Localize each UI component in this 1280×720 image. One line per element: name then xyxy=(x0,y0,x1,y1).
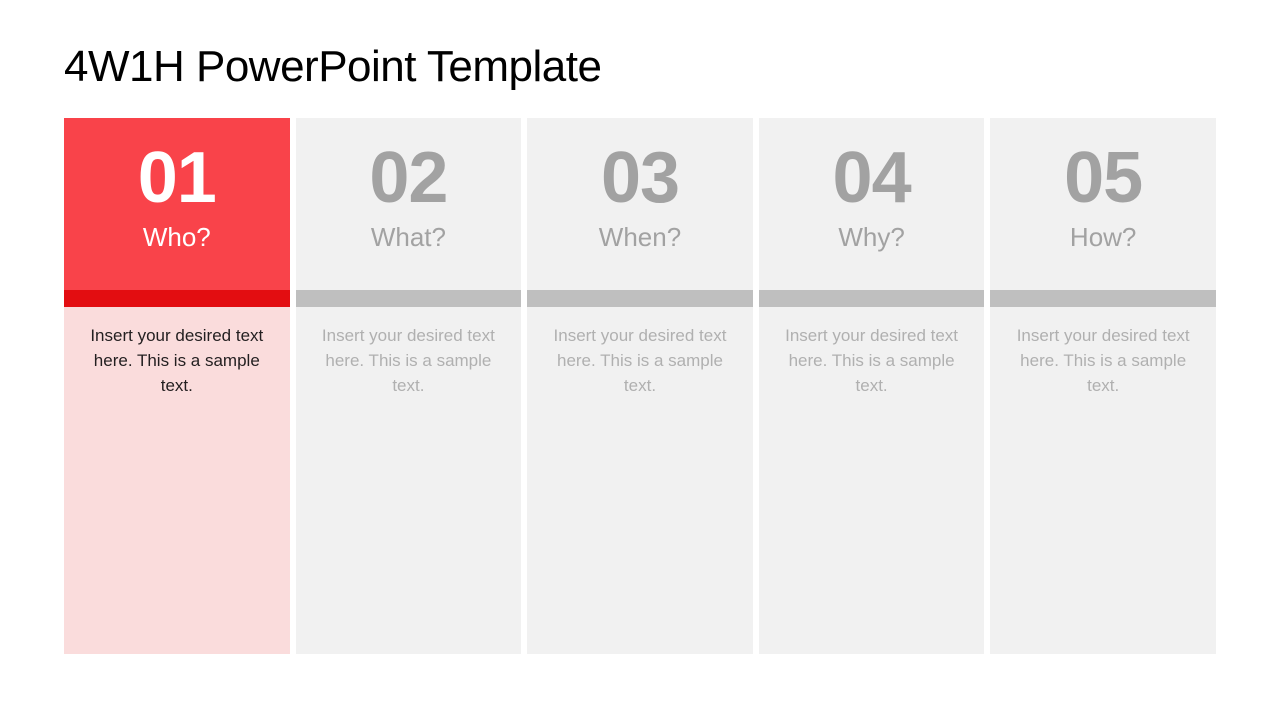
column-01-accent-bar xyxy=(64,290,290,307)
column-05[interactable]: 05 How? Insert your desired text here. T… xyxy=(990,118,1216,654)
column-02-text: Insert your desired text here. This is a… xyxy=(312,323,506,398)
column-04-text: Insert your desired text here. This is a… xyxy=(775,323,969,398)
column-05-accent-bar xyxy=(990,290,1216,307)
column-05-body[interactable]: Insert your desired text here. This is a… xyxy=(990,307,1216,654)
column-04-accent-bar xyxy=(759,290,985,307)
column-05-label: How? xyxy=(1070,222,1136,252)
column-01-header[interactable]: 01 Who? xyxy=(64,118,290,290)
column-03-header[interactable]: 03 When? xyxy=(527,118,753,290)
column-01-number: 01 xyxy=(138,140,216,216)
column-04-header[interactable]: 04 Why? xyxy=(759,118,985,290)
column-02[interactable]: 02 What? Insert your desired text here. … xyxy=(296,118,522,654)
column-03-text: Insert your desired text here. This is a… xyxy=(543,323,737,398)
slide-canvas: 4W1H PowerPoint Template 01 Who? Insert … xyxy=(0,0,1280,720)
column-03-accent-bar xyxy=(527,290,753,307)
column-02-accent-bar xyxy=(296,290,522,307)
column-04[interactable]: 04 Why? Insert your desired text here. T… xyxy=(759,118,985,654)
column-02-body[interactable]: Insert your desired text here. This is a… xyxy=(296,307,522,654)
column-05-number: 05 xyxy=(1064,140,1142,216)
column-group: 01 Who? Insert your desired text here. T… xyxy=(64,118,1216,654)
column-02-number: 02 xyxy=(369,140,447,216)
column-01[interactable]: 01 Who? Insert your desired text here. T… xyxy=(64,118,290,654)
column-03-body[interactable]: Insert your desired text here. This is a… xyxy=(527,307,753,654)
column-04-number: 04 xyxy=(833,140,911,216)
column-01-text: Insert your desired text here. This is a… xyxy=(80,323,274,398)
column-03-number: 03 xyxy=(601,140,679,216)
column-04-body[interactable]: Insert your desired text here. This is a… xyxy=(759,307,985,654)
column-03-label: When? xyxy=(599,222,681,252)
column-02-label: What? xyxy=(371,222,446,252)
page-title: 4W1H PowerPoint Template xyxy=(64,40,601,94)
column-05-header[interactable]: 05 How? xyxy=(990,118,1216,290)
column-01-body[interactable]: Insert your desired text here. This is a… xyxy=(64,307,290,654)
column-05-text: Insert your desired text here. This is a… xyxy=(1006,323,1200,398)
column-02-header[interactable]: 02 What? xyxy=(296,118,522,290)
column-04-label: Why? xyxy=(838,222,904,252)
column-03[interactable]: 03 When? Insert your desired text here. … xyxy=(527,118,753,654)
column-01-label: Who? xyxy=(143,222,211,252)
